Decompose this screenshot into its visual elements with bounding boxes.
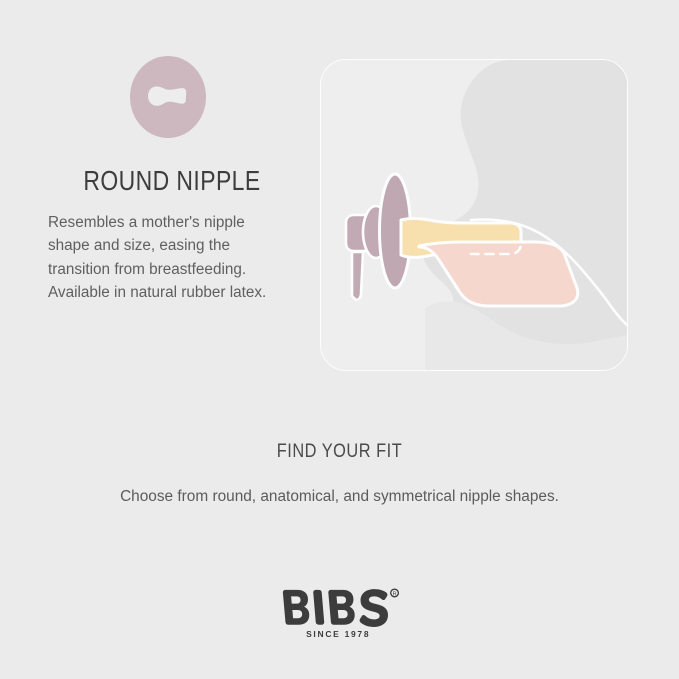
feature-text-column: ROUND NIPPLE Resembles a mother's nipple…: [48, 55, 296, 304]
svg-text:R: R: [392, 591, 396, 597]
baby-mouth-pacifier-illustration: [321, 60, 627, 370]
illustration-card: [320, 59, 628, 371]
find-your-fit-title: FIND YOUR FIT: [54, 440, 624, 463]
feature-description: Resembles a mother's nipple shape and si…: [48, 211, 288, 304]
feature-row: ROUND NIPPLE Resembles a mother's nipple…: [0, 0, 679, 400]
brand-logo: R SINCE 1978: [0, 588, 679, 644]
feature-title: ROUND NIPPLE: [70, 165, 273, 197]
find-your-fit-block: FIND YOUR FIT Choose from round, anatomi…: [0, 440, 679, 508]
round-nipple-shape-icon: [128, 55, 208, 139]
brand-tagline-text: SINCE 1978: [306, 629, 370, 639]
bibs-wordmark-icon: R SINCE 1978: [280, 588, 400, 639]
product-feature-page: ROUND NIPPLE Resembles a mother's nipple…: [0, 0, 679, 679]
find-your-fit-subtitle: Choose from round, anatomical, and symme…: [0, 486, 679, 508]
